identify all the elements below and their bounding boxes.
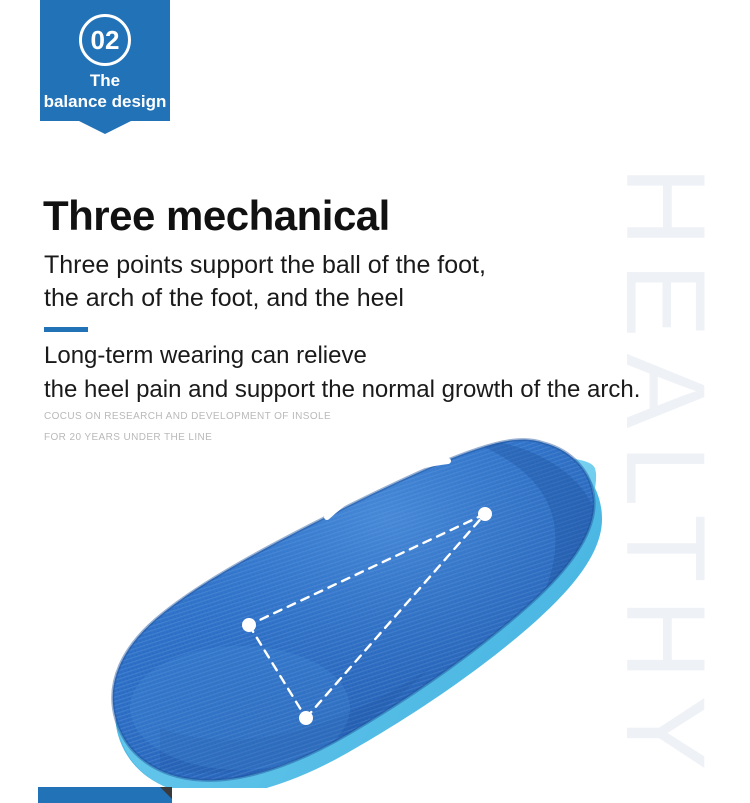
badge-pointer-icon: [79, 121, 131, 134]
paragraph-line-2: the heel pain and support the normal gro…: [44, 376, 640, 405]
marker-arch: [242, 618, 256, 632]
section-divider: [44, 327, 88, 332]
subtitle-line-2: the arch of the foot, and the heel: [44, 283, 404, 313]
step-badge: 02 The balance design: [40, 0, 170, 121]
footer-bar-fold-icon: [160, 787, 172, 799]
marker-heel: [299, 711, 313, 725]
badge-circle-icon: 02: [79, 14, 131, 66]
badge-title-line2: balance design: [40, 93, 170, 112]
footer-bar: [38, 787, 172, 803]
badge-title-line1: The: [40, 72, 170, 91]
promo-page: HEALTHY 02 The balance design Three mech…: [0, 0, 750, 803]
fineprint-line-1: COCUS ON RESEARCH AND DEVELOPMENT OF INS…: [44, 411, 331, 422]
badge-number: 02: [82, 17, 128, 63]
watermark-text: HEALTHY: [609, 166, 721, 686]
marker-ball-of-foot: [478, 507, 492, 521]
page-title: Three mechanical: [43, 194, 390, 238]
subtitle-line-1: Three points support the ball of the foo…: [44, 250, 486, 280]
insole-product-image: [100, 428, 620, 788]
paragraph-line-1: Long-term wearing can relieve: [44, 342, 367, 371]
